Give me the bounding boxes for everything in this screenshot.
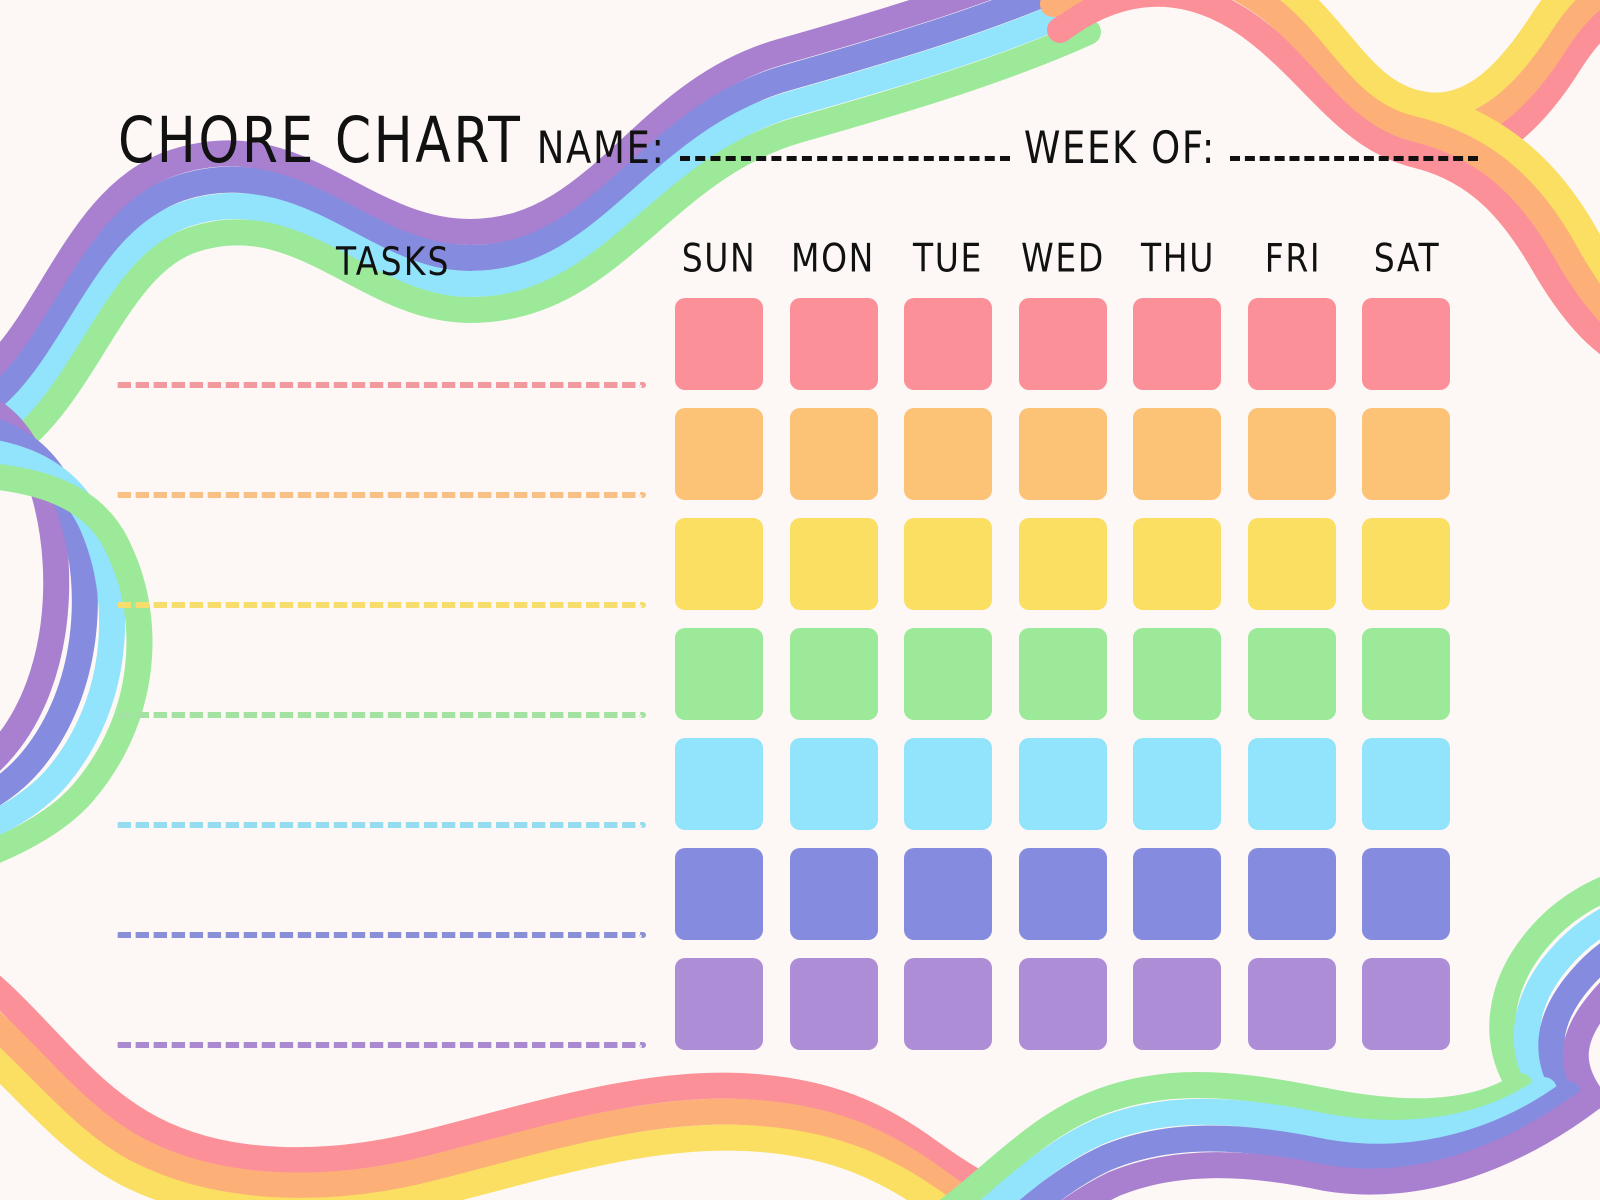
- day-header-wed: WED: [1008, 238, 1118, 277]
- chore-cell-row6-fri[interactable]: [1248, 848, 1336, 940]
- chore-cell-row2-mon[interactable]: [790, 408, 878, 500]
- chore-cell-row1-sun[interactable]: [675, 298, 763, 390]
- chore-cell-row1-thu[interactable]: [1133, 298, 1221, 390]
- chart-header: CHORE CHART NAME: WEEK OF:: [118, 118, 1478, 190]
- chore-cell-row7-sat[interactable]: [1362, 958, 1450, 1050]
- chore-cell-row3-wed[interactable]: [1019, 518, 1107, 610]
- week-of-input[interactable]: [1230, 156, 1478, 161]
- chore-cell-row5-wed[interactable]: [1019, 738, 1107, 830]
- chore-cell-row2-wed[interactable]: [1019, 408, 1107, 500]
- chore-cell-row3-mon[interactable]: [790, 518, 878, 610]
- chore-chart-page: CHORE CHART NAME: WEEK OF: TASKS SUN MON…: [0, 0, 1600, 1200]
- tasks-column-header: TASKS: [336, 238, 451, 285]
- chore-cell-row1-fri[interactable]: [1248, 298, 1336, 390]
- day-header-sat: SAT: [1352, 238, 1462, 277]
- chore-cell-row7-tue[interactable]: [904, 958, 992, 1050]
- chore-cell-row6-mon[interactable]: [790, 848, 878, 940]
- top-left-loop-icon: [0, 395, 139, 878]
- column-header-row: TASKS SUN MON TUE WED THU FRI SAT: [0, 238, 1600, 286]
- chore-cell-row3-sat[interactable]: [1362, 518, 1450, 610]
- chore-cell-row4-wed[interactable]: [1019, 628, 1107, 720]
- day-header-tue: TUE: [893, 238, 1003, 277]
- chore-cell-row6-thu[interactable]: [1133, 848, 1221, 940]
- chore-cell-row4-sat[interactable]: [1362, 628, 1450, 720]
- chore-cell-row5-mon[interactable]: [790, 738, 878, 830]
- chore-cell-row4-mon[interactable]: [790, 628, 878, 720]
- chore-cell-row5-fri[interactable]: [1248, 738, 1336, 830]
- task-line-2[interactable]: [116, 492, 646, 498]
- chore-cell-row4-tue[interactable]: [904, 628, 992, 720]
- week-of-field-label: WEEK OF:: [1024, 122, 1216, 174]
- task-line-4[interactable]: [116, 712, 646, 718]
- chore-cell-row4-sun[interactable]: [675, 628, 763, 720]
- day-header-fri: FRI: [1238, 238, 1348, 277]
- chore-cell-row1-mon[interactable]: [790, 298, 878, 390]
- chore-cell-row1-wed[interactable]: [1019, 298, 1107, 390]
- chore-cell-row2-tue[interactable]: [904, 408, 992, 500]
- task-line-7[interactable]: [116, 1042, 646, 1048]
- chore-cell-row3-sun[interactable]: [675, 518, 763, 610]
- task-line-3[interactable]: [116, 602, 646, 608]
- bottom-right-wave-icon: [1502, 870, 1600, 1098]
- day-header-sun: SUN: [664, 238, 774, 277]
- chore-cell-row3-tue[interactable]: [904, 518, 992, 610]
- chore-cell-row6-wed[interactable]: [1019, 848, 1107, 940]
- day-header-thu: THU: [1123, 238, 1233, 277]
- chore-cell-row4-fri[interactable]: [1248, 628, 1336, 720]
- chore-cell-row1-tue[interactable]: [904, 298, 992, 390]
- chore-cell-row7-thu[interactable]: [1133, 958, 1221, 1050]
- chore-cell-row2-sun[interactable]: [675, 408, 763, 500]
- chore-cell-row6-sat[interactable]: [1362, 848, 1450, 940]
- chore-cell-row3-thu[interactable]: [1133, 518, 1221, 610]
- chore-cell-row7-mon[interactable]: [790, 958, 878, 1050]
- task-line-1[interactable]: [116, 382, 646, 388]
- chore-cell-row6-tue[interactable]: [904, 848, 992, 940]
- chore-cell-row7-wed[interactable]: [1019, 958, 1107, 1050]
- chore-cell-row2-sat[interactable]: [1362, 408, 1450, 500]
- day-header-mon: MON: [778, 238, 888, 277]
- chore-cell-row5-tue[interactable]: [904, 738, 992, 830]
- chore-cell-row5-sun[interactable]: [675, 738, 763, 830]
- chore-cell-row2-thu[interactable]: [1133, 408, 1221, 500]
- chore-cell-row5-thu[interactable]: [1133, 738, 1221, 830]
- name-input[interactable]: [680, 156, 1010, 161]
- chore-cell-row3-fri[interactable]: [1248, 518, 1336, 610]
- name-field-group: NAME:: [537, 131, 1010, 174]
- chore-cell-row1-sat[interactable]: [1362, 298, 1450, 390]
- week-of-field-group: WEEK OF:: [1024, 131, 1478, 174]
- chore-cell-row7-sun[interactable]: [675, 958, 763, 1050]
- chore-cell-row2-fri[interactable]: [1248, 408, 1336, 500]
- chore-cell-row5-sat[interactable]: [1362, 738, 1450, 830]
- chore-cell-row6-sun[interactable]: [675, 848, 763, 940]
- task-line-6[interactable]: [116, 932, 646, 938]
- name-field-label: NAME:: [537, 122, 666, 174]
- chore-cell-row7-fri[interactable]: [1248, 958, 1336, 1050]
- chore-cell-row4-thu[interactable]: [1133, 628, 1221, 720]
- page-title: CHORE CHART: [118, 105, 522, 178]
- bottom-right-sweep-icon: [940, 1085, 1592, 1200]
- task-line-5[interactable]: [116, 822, 646, 828]
